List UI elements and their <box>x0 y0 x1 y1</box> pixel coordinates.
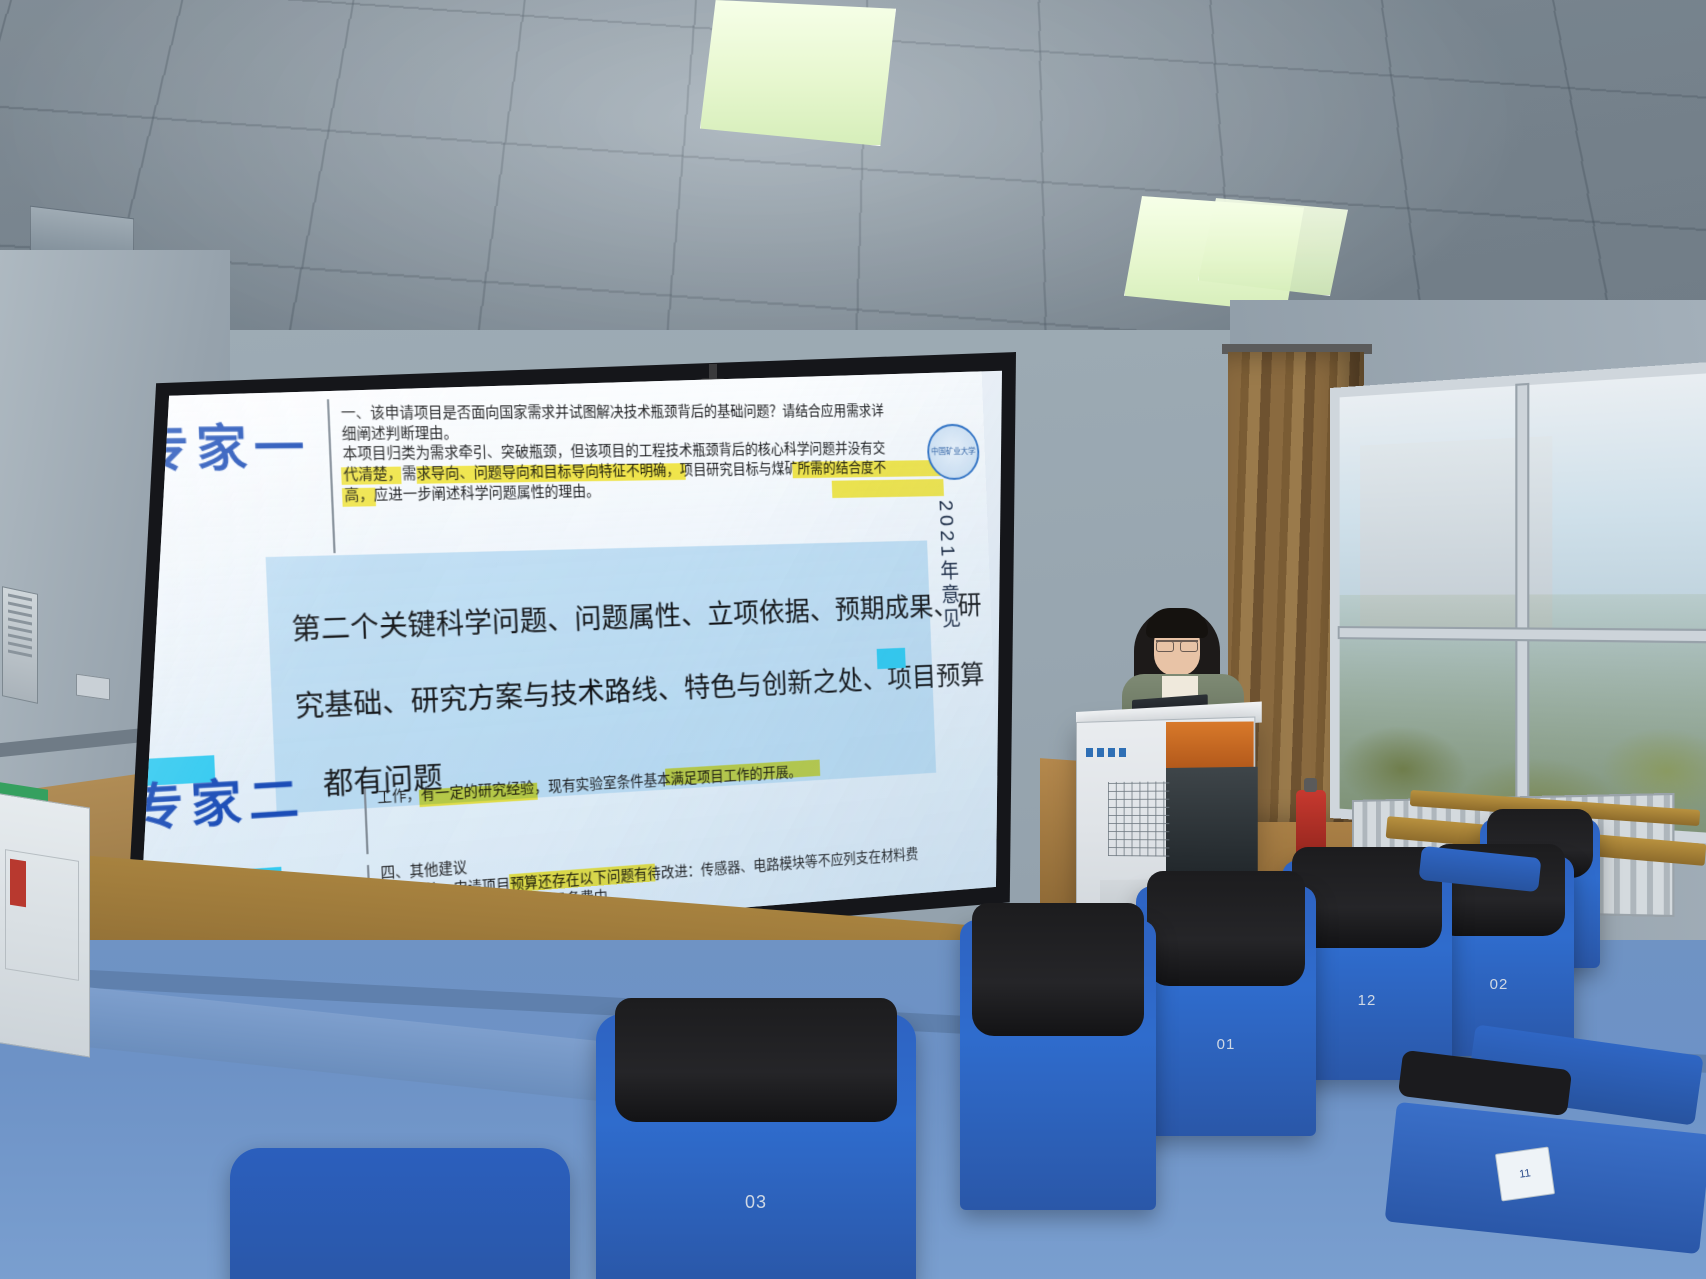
presenter-glasses <box>1156 640 1198 649</box>
seat-headrest <box>615 998 897 1122</box>
ceiling-light-panel <box>700 0 896 146</box>
wall-outlet-plate <box>76 674 110 701</box>
window-mullion-vertical <box>1518 385 1528 821</box>
presenter-fringe <box>1146 608 1208 638</box>
ceiling-light-panel <box>1198 198 1348 296</box>
review-line: 一、该申请项目是否面向国家需求并试图解决技术瓶颈背后的基础问题？请结合应用需求详 <box>340 402 941 424</box>
seat[interactable] <box>960 920 1156 1210</box>
window <box>1330 360 1706 846</box>
seat-number: 12 <box>1358 992 1377 1009</box>
seat[interactable]: 03 <box>596 1014 916 1279</box>
seat-number: 02 <box>1490 976 1509 993</box>
cabinet-red-accent <box>10 859 26 908</box>
wall-speaker-icon <box>2 586 38 704</box>
seat-headrest <box>1147 871 1305 986</box>
seat-number: 01 <box>1217 1036 1236 1053</box>
podium-speaker-grille <box>1108 781 1169 856</box>
lecture-room-photo: 专家一 一、该申请项目是否面向国家需求并试图解决技术瓶颈背后的基础问题？请结合应… <box>0 0 1706 1279</box>
seat[interactable] <box>230 1148 570 1279</box>
podium-panel-dark <box>1166 767 1258 873</box>
yellow-highlight <box>832 479 944 498</box>
seat[interactable]: 01 <box>1136 886 1316 1136</box>
expert-two-label: 专家二 <box>138 759 307 841</box>
yellow-highlight <box>342 488 376 507</box>
podium-panel-orange <box>1166 721 1254 768</box>
storage-cabinet[interactable] <box>0 792 90 1057</box>
seat-tag-card[interactable]: 11 <box>1495 1146 1555 1201</box>
year-note: 2021年意见 <box>933 500 960 633</box>
seat-headrest <box>972 903 1144 1036</box>
seat-number: 03 <box>745 1192 767 1213</box>
podium-control-buttons[interactable] <box>1086 744 1138 754</box>
yellow-highlight <box>341 467 402 485</box>
yellow-highlight <box>792 460 943 478</box>
cyan-marker-chip <box>877 648 906 669</box>
